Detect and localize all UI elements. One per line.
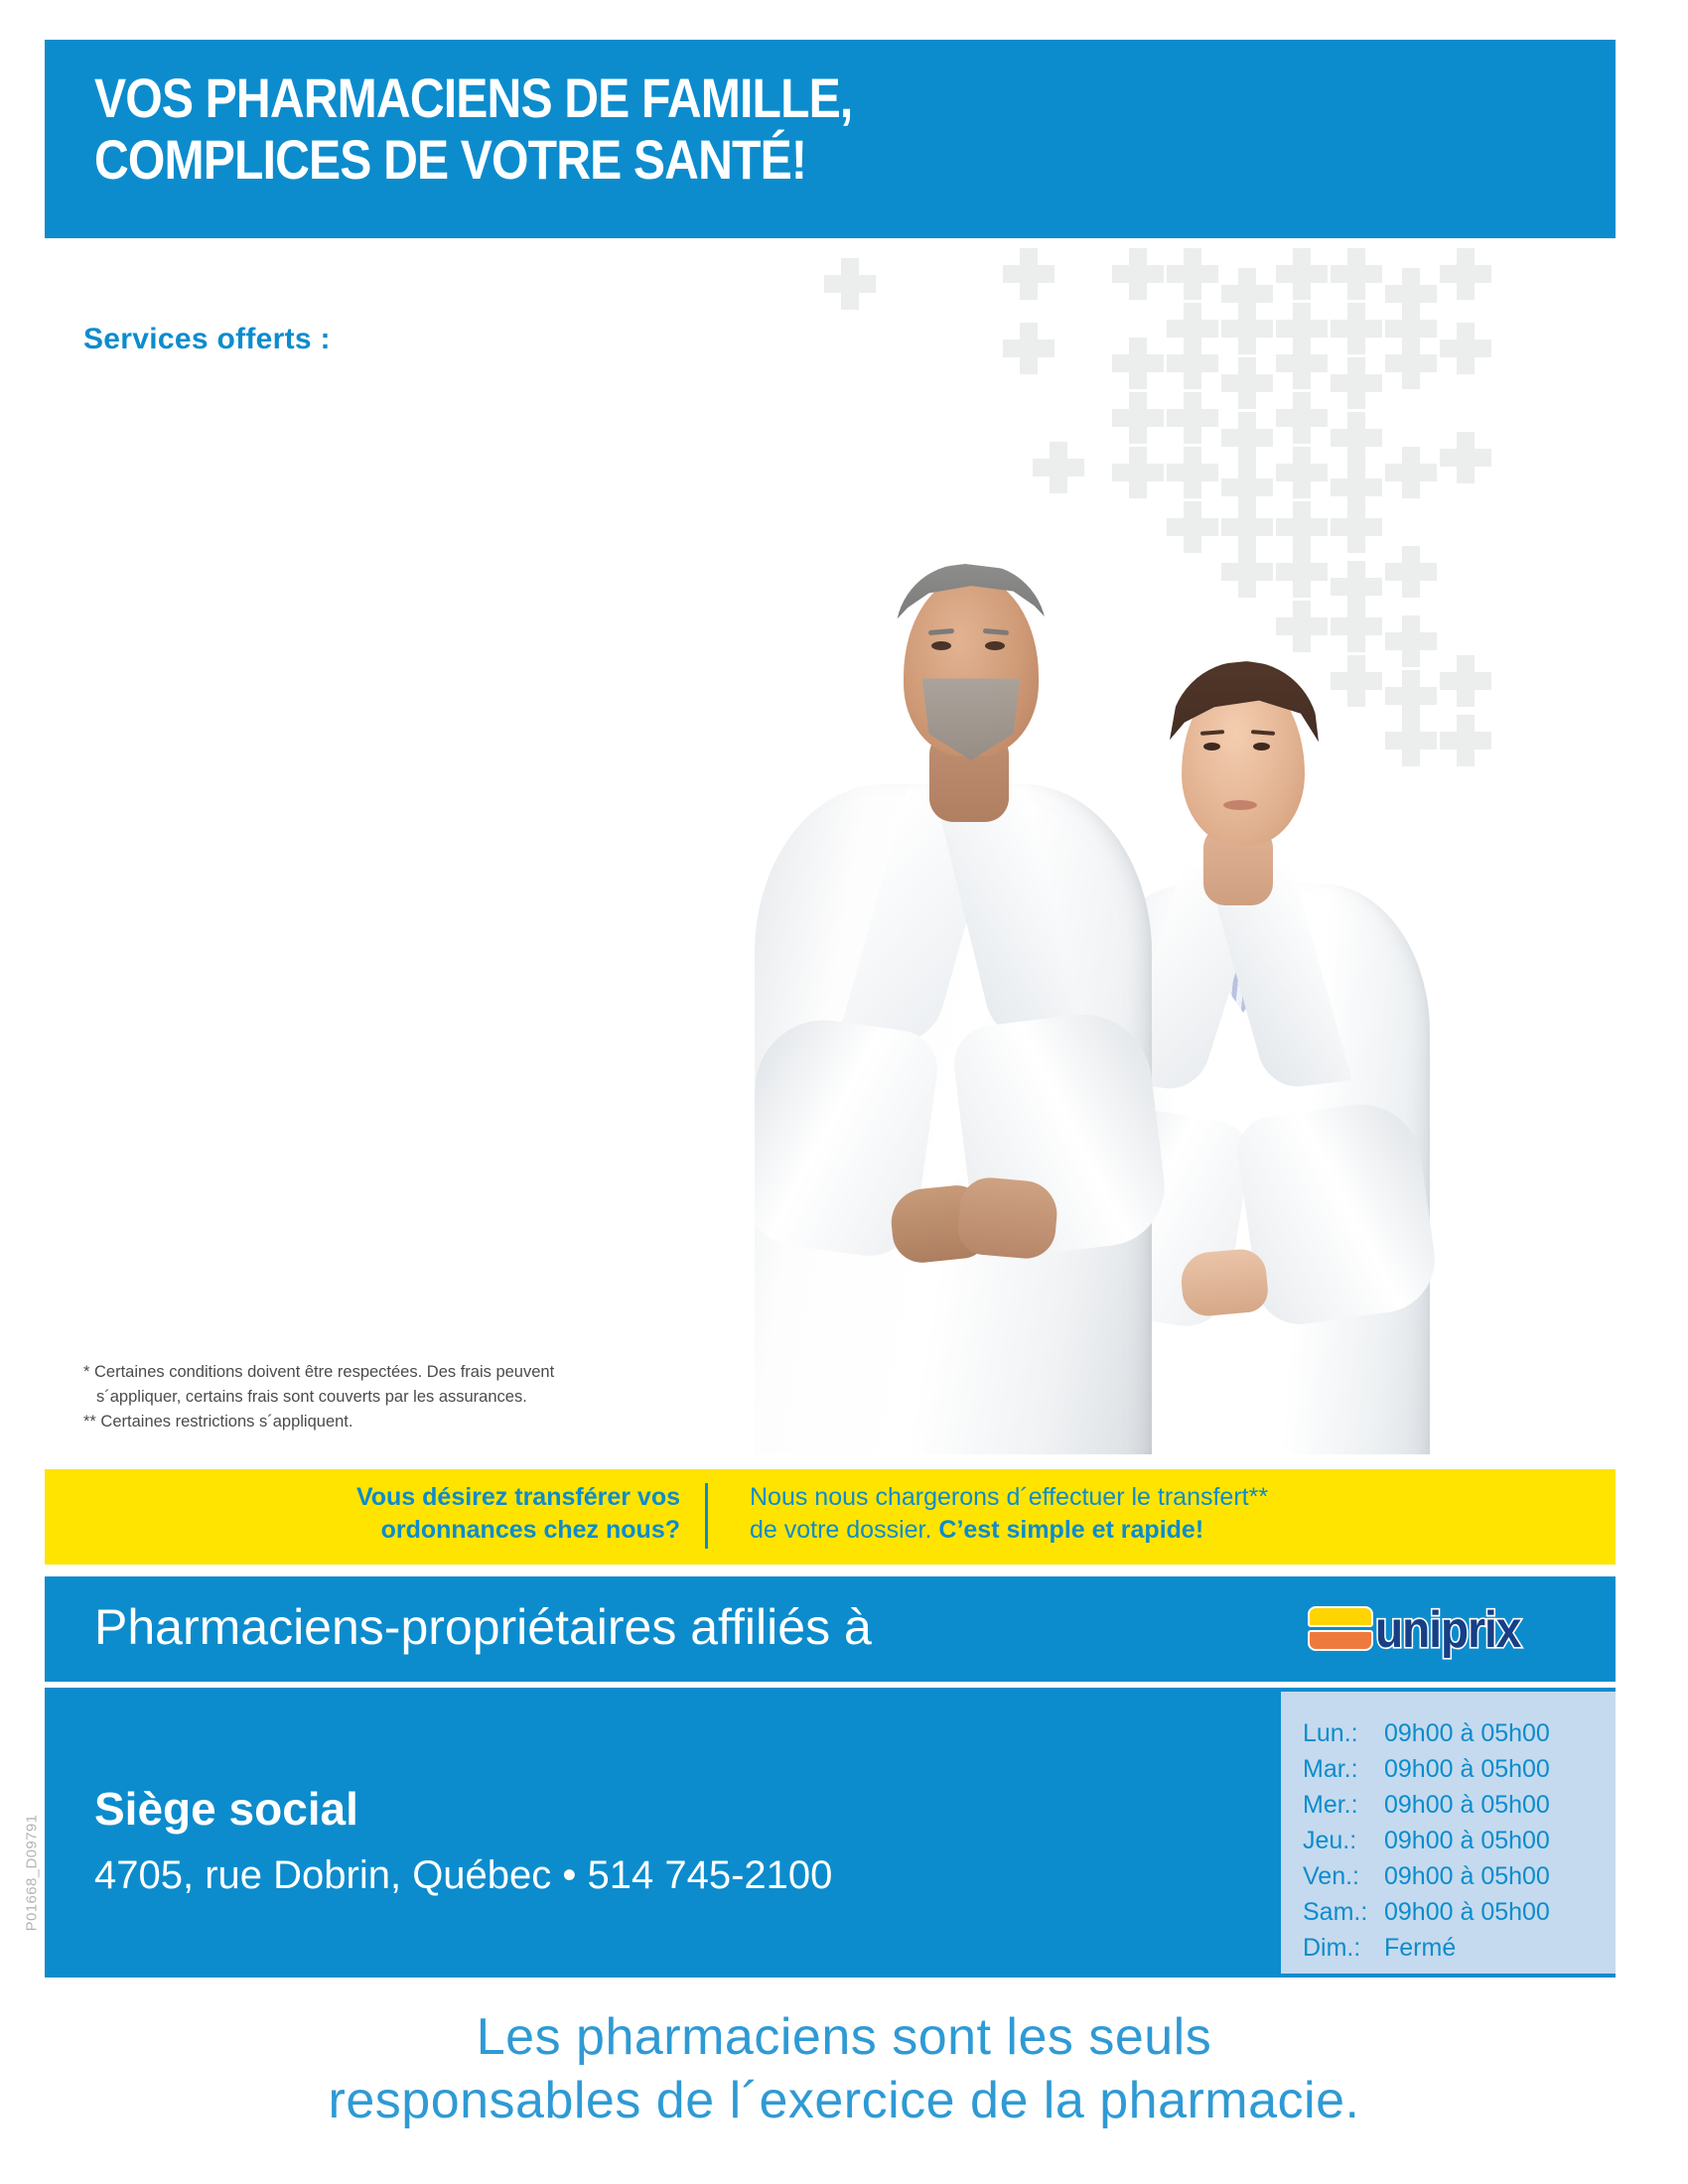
prescription-transfer-banner: Vous désirez transférer vos ordonnances …: [45, 1469, 1616, 1565]
male-eye-right-shape: [985, 641, 1005, 650]
medical-cross-icon: [1167, 303, 1218, 354]
medical-cross-icon: [1003, 248, 1055, 300]
hours-row: Sam.: 09h00 à 05h00: [1281, 1894, 1616, 1930]
medical-cross-icon: [1385, 268, 1437, 320]
hours-day-label: Dim.:: [1281, 1930, 1384, 1966]
medical-cross-icon: [1276, 303, 1328, 354]
medical-cross-icon: [1440, 432, 1491, 483]
pharmacists-photo: [755, 556, 1618, 1454]
transfer-question: Vous désirez transférer vos ordonnances …: [223, 1481, 680, 1547]
medical-cross-icon: [1276, 447, 1328, 498]
hours-row: Lun.: 09h00 à 05h00: [1281, 1715, 1616, 1751]
medical-cross-icon: [1167, 392, 1218, 444]
uniprix-logo-orange-bar: [1308, 1630, 1373, 1651]
head-office-title: Siège social: [94, 1783, 358, 1835]
medical-cross-icon: [1221, 462, 1273, 513]
medical-cross-icon: [1440, 323, 1491, 374]
opening-hours-panel: Lun.: 09h00 à 05h00 Mar.: 09h00 à 05h00 …: [1281, 1692, 1616, 1974]
medical-cross-icon: [1385, 338, 1437, 389]
medical-cross-icon: [1221, 412, 1273, 464]
uniprix-logo-bars-icon: [1308, 1605, 1373, 1653]
medical-cross-icon: [1331, 248, 1382, 300]
footnote-line-2: s´appliquer, certains frais sont couvert…: [83, 1385, 719, 1410]
hours-day-label: Ven.:: [1281, 1858, 1384, 1894]
hours-value: 09h00 à 05h00: [1384, 1823, 1616, 1858]
hours-day-label: Sam.:: [1281, 1894, 1384, 1930]
transfer-answer: Nous nous chargerons d´effectuer le tran…: [750, 1481, 1544, 1547]
hours-row: Jeu.: 09h00 à 05h00: [1281, 1823, 1616, 1858]
document-reference-code: P01668_D09791: [24, 1774, 41, 1973]
medical-cross-icon: [1221, 303, 1273, 354]
medical-cross-icon: [1003, 323, 1055, 374]
transfer-answer-line2: de votre dossier.: [750, 1516, 938, 1544]
hours-day-label: Lun.:: [1281, 1715, 1384, 1751]
contact-block: Siège social 4705, rue Dobrin, Québec • …: [45, 1688, 1616, 1978]
medical-cross-icon: [1167, 447, 1218, 498]
medical-cross-icon: [1221, 501, 1273, 553]
poster-page: VOS PHARMACIENS DE FAMILLE, COMPLICES DE…: [0, 0, 1688, 2184]
hours-value: 09h00 à 05h00: [1384, 1894, 1616, 1930]
transfer-answer-line1: Nous nous chargerons d´effectuer le tran…: [750, 1483, 1268, 1511]
hours-row: Ven.: 09h00 à 05h00: [1281, 1858, 1616, 1894]
services-offered-label: Services offerts :: [83, 323, 331, 356]
hours-value: Fermé: [1384, 1930, 1616, 1966]
hours-day-label: Mar.:: [1281, 1751, 1384, 1787]
medical-cross-icon: [1385, 303, 1437, 354]
male-eye-left-shape: [931, 641, 951, 650]
hours-row: Dim.: Fermé: [1281, 1930, 1616, 1966]
female-eye-right-shape: [1253, 743, 1270, 751]
hours-value: 09h00 à 05h00: [1384, 1787, 1616, 1823]
medical-cross-icon: [1112, 447, 1164, 498]
female-eye-left-shape: [1203, 743, 1220, 751]
medical-cross-icon: [1221, 357, 1273, 409]
hours-value: 09h00 à 05h00: [1384, 1751, 1616, 1787]
uniprix-logo-yellow-bar: [1308, 1606, 1373, 1627]
medical-cross-icon: [1331, 303, 1382, 354]
medical-cross-icon: [1167, 248, 1218, 300]
hours-day-label: Jeu.:: [1281, 1823, 1384, 1858]
transfer-answer-emphasis: C’est simple et rapide!: [938, 1516, 1203, 1544]
head-office-address: 4705, rue Dobrin, Québec • 514 745-2100: [94, 1850, 832, 1900]
hours-row: Mer.: 09h00 à 05h00: [1281, 1787, 1616, 1823]
affiliation-banner: Pharmaciens-propriétaires affiliés à uni…: [45, 1576, 1616, 1682]
footnote-line-1: * Certaines conditions doivent être resp…: [83, 1360, 719, 1385]
medical-cross-icon: [1033, 442, 1084, 493]
transfer-divider: [705, 1483, 708, 1549]
medical-cross-icon: [1221, 268, 1273, 320]
hours-row: Mar.: 09h00 à 05h00: [1281, 1751, 1616, 1787]
medical-cross-icon: [1331, 462, 1382, 513]
hours-day-label: Mer.:: [1281, 1787, 1384, 1823]
legal-footer-text: Les pharmaciens sont les seuls responsab…: [0, 2005, 1688, 2132]
medical-cross-icon: [1167, 338, 1218, 389]
uniprix-logo[interactable]: uniprix: [1308, 1600, 1574, 1658]
medical-cross-icon: [1276, 248, 1328, 300]
footnotes: * Certaines conditions doivent être resp…: [83, 1360, 719, 1434]
medical-cross-icon: [1112, 248, 1164, 300]
hours-value: 09h00 à 05h00: [1384, 1858, 1616, 1894]
medical-cross-icon: [1112, 392, 1164, 444]
medical-cross-icon: [1167, 501, 1218, 553]
medical-cross-icon: [1331, 412, 1382, 464]
page-title: VOS PHARMACIENS DE FAMILLE, COMPLICES DE…: [94, 68, 1290, 191]
uniprix-logo-wordmark: uniprix: [1375, 1603, 1520, 1655]
female-hand-shape: [1179, 1247, 1269, 1317]
medical-cross-icon: [1331, 357, 1382, 409]
medical-cross-icon: [1276, 392, 1328, 444]
medical-cross-icon: [1440, 248, 1491, 300]
affiliation-text: Pharmaciens-propriétaires affiliés à: [94, 1594, 872, 1660]
medical-cross-icon: [824, 258, 876, 310]
hours-value: 09h00 à 05h00: [1384, 1715, 1616, 1751]
female-lips-shape: [1223, 800, 1257, 810]
medical-cross-icon: [1112, 338, 1164, 389]
medical-cross-icon: [1331, 501, 1382, 553]
footnote-line-3: ** Certaines restrictions s´appliquent.: [83, 1410, 719, 1434]
medical-cross-icon: [1276, 501, 1328, 553]
medical-cross-icon: [1385, 447, 1437, 498]
medical-cross-icon: [1276, 338, 1328, 389]
male-hand-right-shape: [956, 1175, 1059, 1261]
